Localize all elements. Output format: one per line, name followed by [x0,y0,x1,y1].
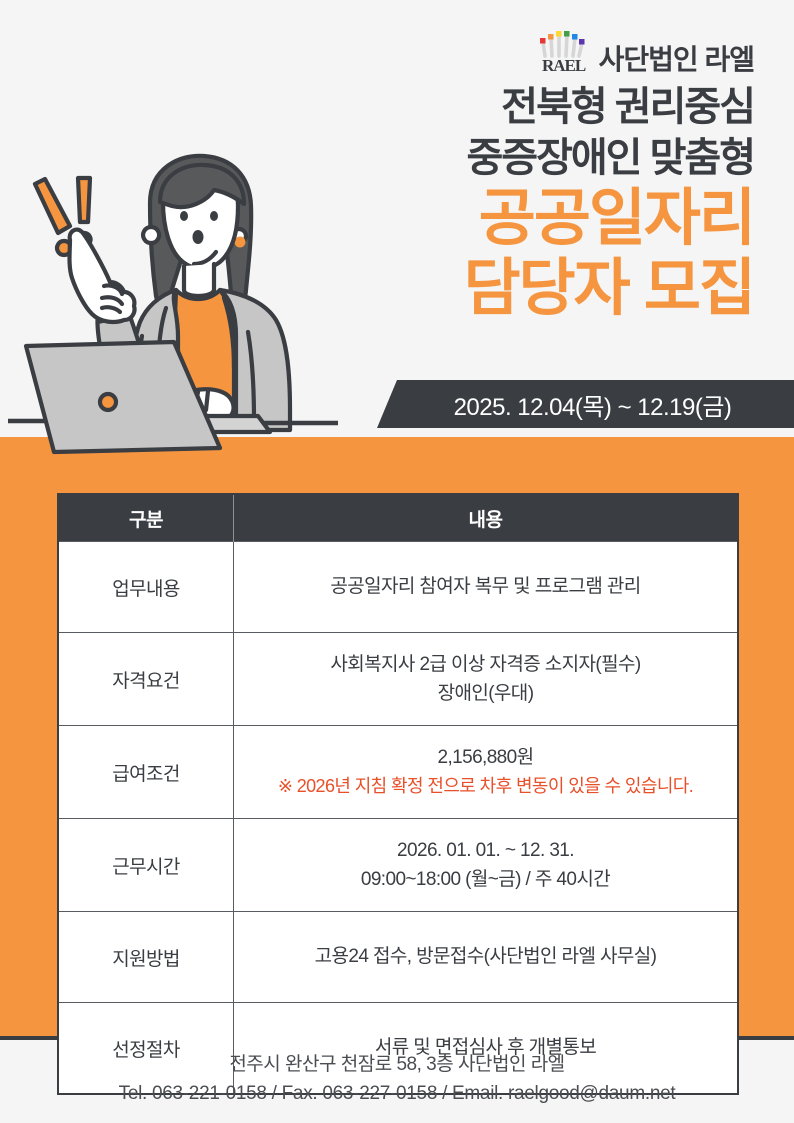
table-header-category: 구분 [59,495,234,542]
salary-change-warning: ※ 2026년 지침 확정 전으로 차후 변동이 있을 수 있습니다. [240,773,731,801]
row-content-line: 공공일자리 참여자 복무 및 프로그램 관리 [240,572,731,601]
headline-highlight-2: 담당자 모집 [324,254,754,323]
table-header-row: 구분 내용 [59,495,737,542]
row-content-line: 2026. 01. 01. ~ 12. 31. [240,836,731,865]
brand-logo-row: RAEL 사단법인 라엘 [537,28,754,74]
row-label: 자격요건 [59,633,234,726]
footer-contact-block: 전주시 완산구 천잠로 58, 3층 사단법인 라엘 Tel. 063-221-… [0,1050,794,1109]
footer-contact: Tel. 063-221-0158 / Fax. 063-227-0158 / … [0,1079,794,1108]
illustration-woman-at-laptop [8,140,338,455]
table-row: 자격요건 사회복지사 2급 이상 자격증 소지자(필수) 장애인(우대) [59,633,737,726]
table-row: 급여조건 2,156,880원 ※ 2026년 지침 확정 전으로 차후 변동이… [59,726,737,819]
row-content-line: 사회복지사 2급 이상 자격증 소지자(필수) [240,650,731,679]
poster: RAEL 사단법인 라엘 전북형 권리중심 중증장애인 맞춤형 공공일자리 담당… [0,0,794,1123]
recruitment-period-text: 2025. 12.04(목) ~ 12.19(금) [440,387,732,422]
row-label: 업무내용 [59,542,234,633]
table-header-content: 내용 [234,495,738,542]
row-content-line: 고용24 접수, 방문접수(사단법인 라엘 사무실) [240,942,731,971]
headline-line-1: 전북형 권리중심 [324,82,754,133]
rael-logo-icon: RAEL [537,28,589,74]
table-row: 근무시간 2026. 01. 01. ~ 12. 31. 09:00~18:00… [59,819,737,912]
table-row: 지원방법 고용24 접수, 방문접수(사단법인 라엘 사무실) [59,912,737,1003]
row-content: 2,156,880원 ※ 2026년 지침 확정 전으로 차후 변동이 있을 수… [234,726,738,819]
row-content-line: 09:00~18:00 (월~금) / 주 40시간 [240,865,731,894]
footer-address: 전주시 완산구 천잠로 58, 3층 사단법인 라엘 [0,1050,794,1079]
headline-line-2: 중증장애인 맞춤형 [324,133,754,184]
table-row: 업무내용 공공일자리 참여자 복무 및 프로그램 관리 [59,542,737,633]
row-content-line: 2,156,880원 [240,743,731,772]
row-content-line: 장애인(우대) [240,679,731,708]
row-content: 고용24 접수, 방문접수(사단법인 라엘 사무실) [234,912,738,1003]
row-label: 근무시간 [59,819,234,912]
recruitment-details-table: 구분 내용 업무내용 공공일자리 참여자 복무 및 프로그램 관리 자격요건 사… [57,493,739,1095]
headline-highlight-1: 공공일자리 [324,184,754,253]
row-label: 지원방법 [59,912,234,1003]
svg-text:RAEL: RAEL [542,56,586,74]
brand-name: 사단법인 라엘 [599,46,754,74]
recruitment-period-banner: 2025. 12.04(목) ~ 12.19(금) [377,380,794,428]
row-label: 급여조건 [59,726,234,819]
row-content: 사회복지사 2급 이상 자격증 소지자(필수) 장애인(우대) [234,633,738,726]
headline-block: 전북형 권리중심 중증장애인 맞춤형 공공일자리 담당자 모집 [324,82,754,323]
row-content: 공공일자리 참여자 복무 및 프로그램 관리 [234,542,738,633]
row-content: 2026. 01. 01. ~ 12. 31. 09:00~18:00 (월~금… [234,819,738,912]
